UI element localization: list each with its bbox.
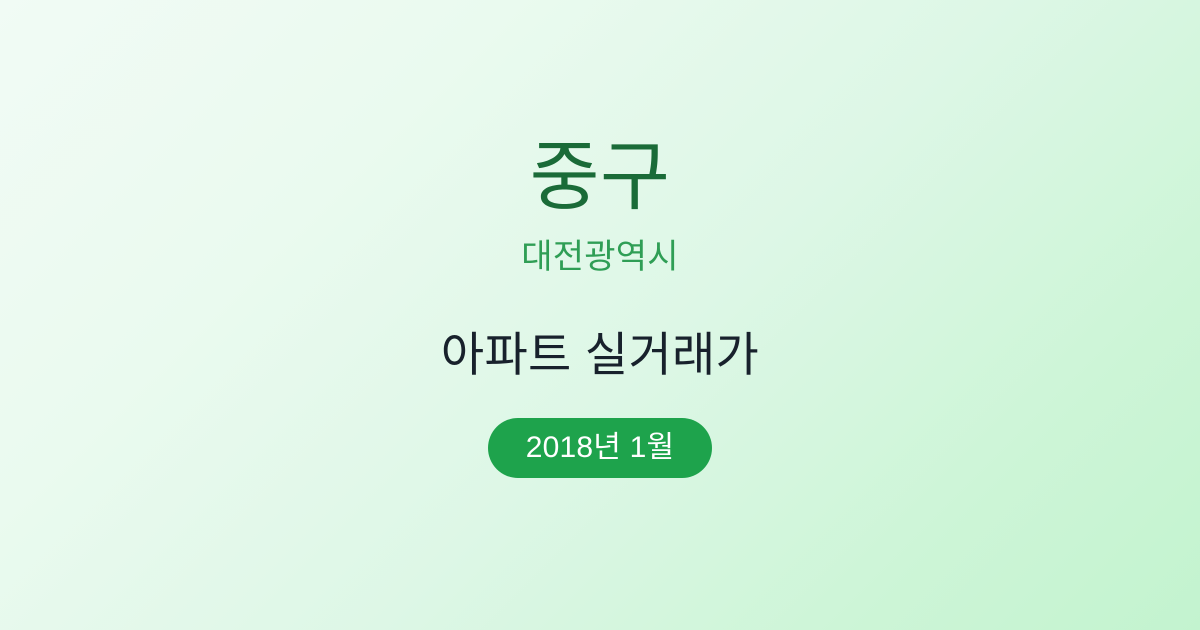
region-parent-name: 대전광역시 [521,239,678,276]
og-card: 중구 대전광역시 아파트 실거래가 2018년 1월 [0,0,1200,630]
region-name: 중구 [530,138,671,218]
period-badge: 2018년 1월 [488,418,712,478]
dataset-heading: 아파트 실거래가 [441,329,759,381]
title-stack: 중구 대전광역시 아파트 실거래가 2018년 1월 [0,138,1200,479]
